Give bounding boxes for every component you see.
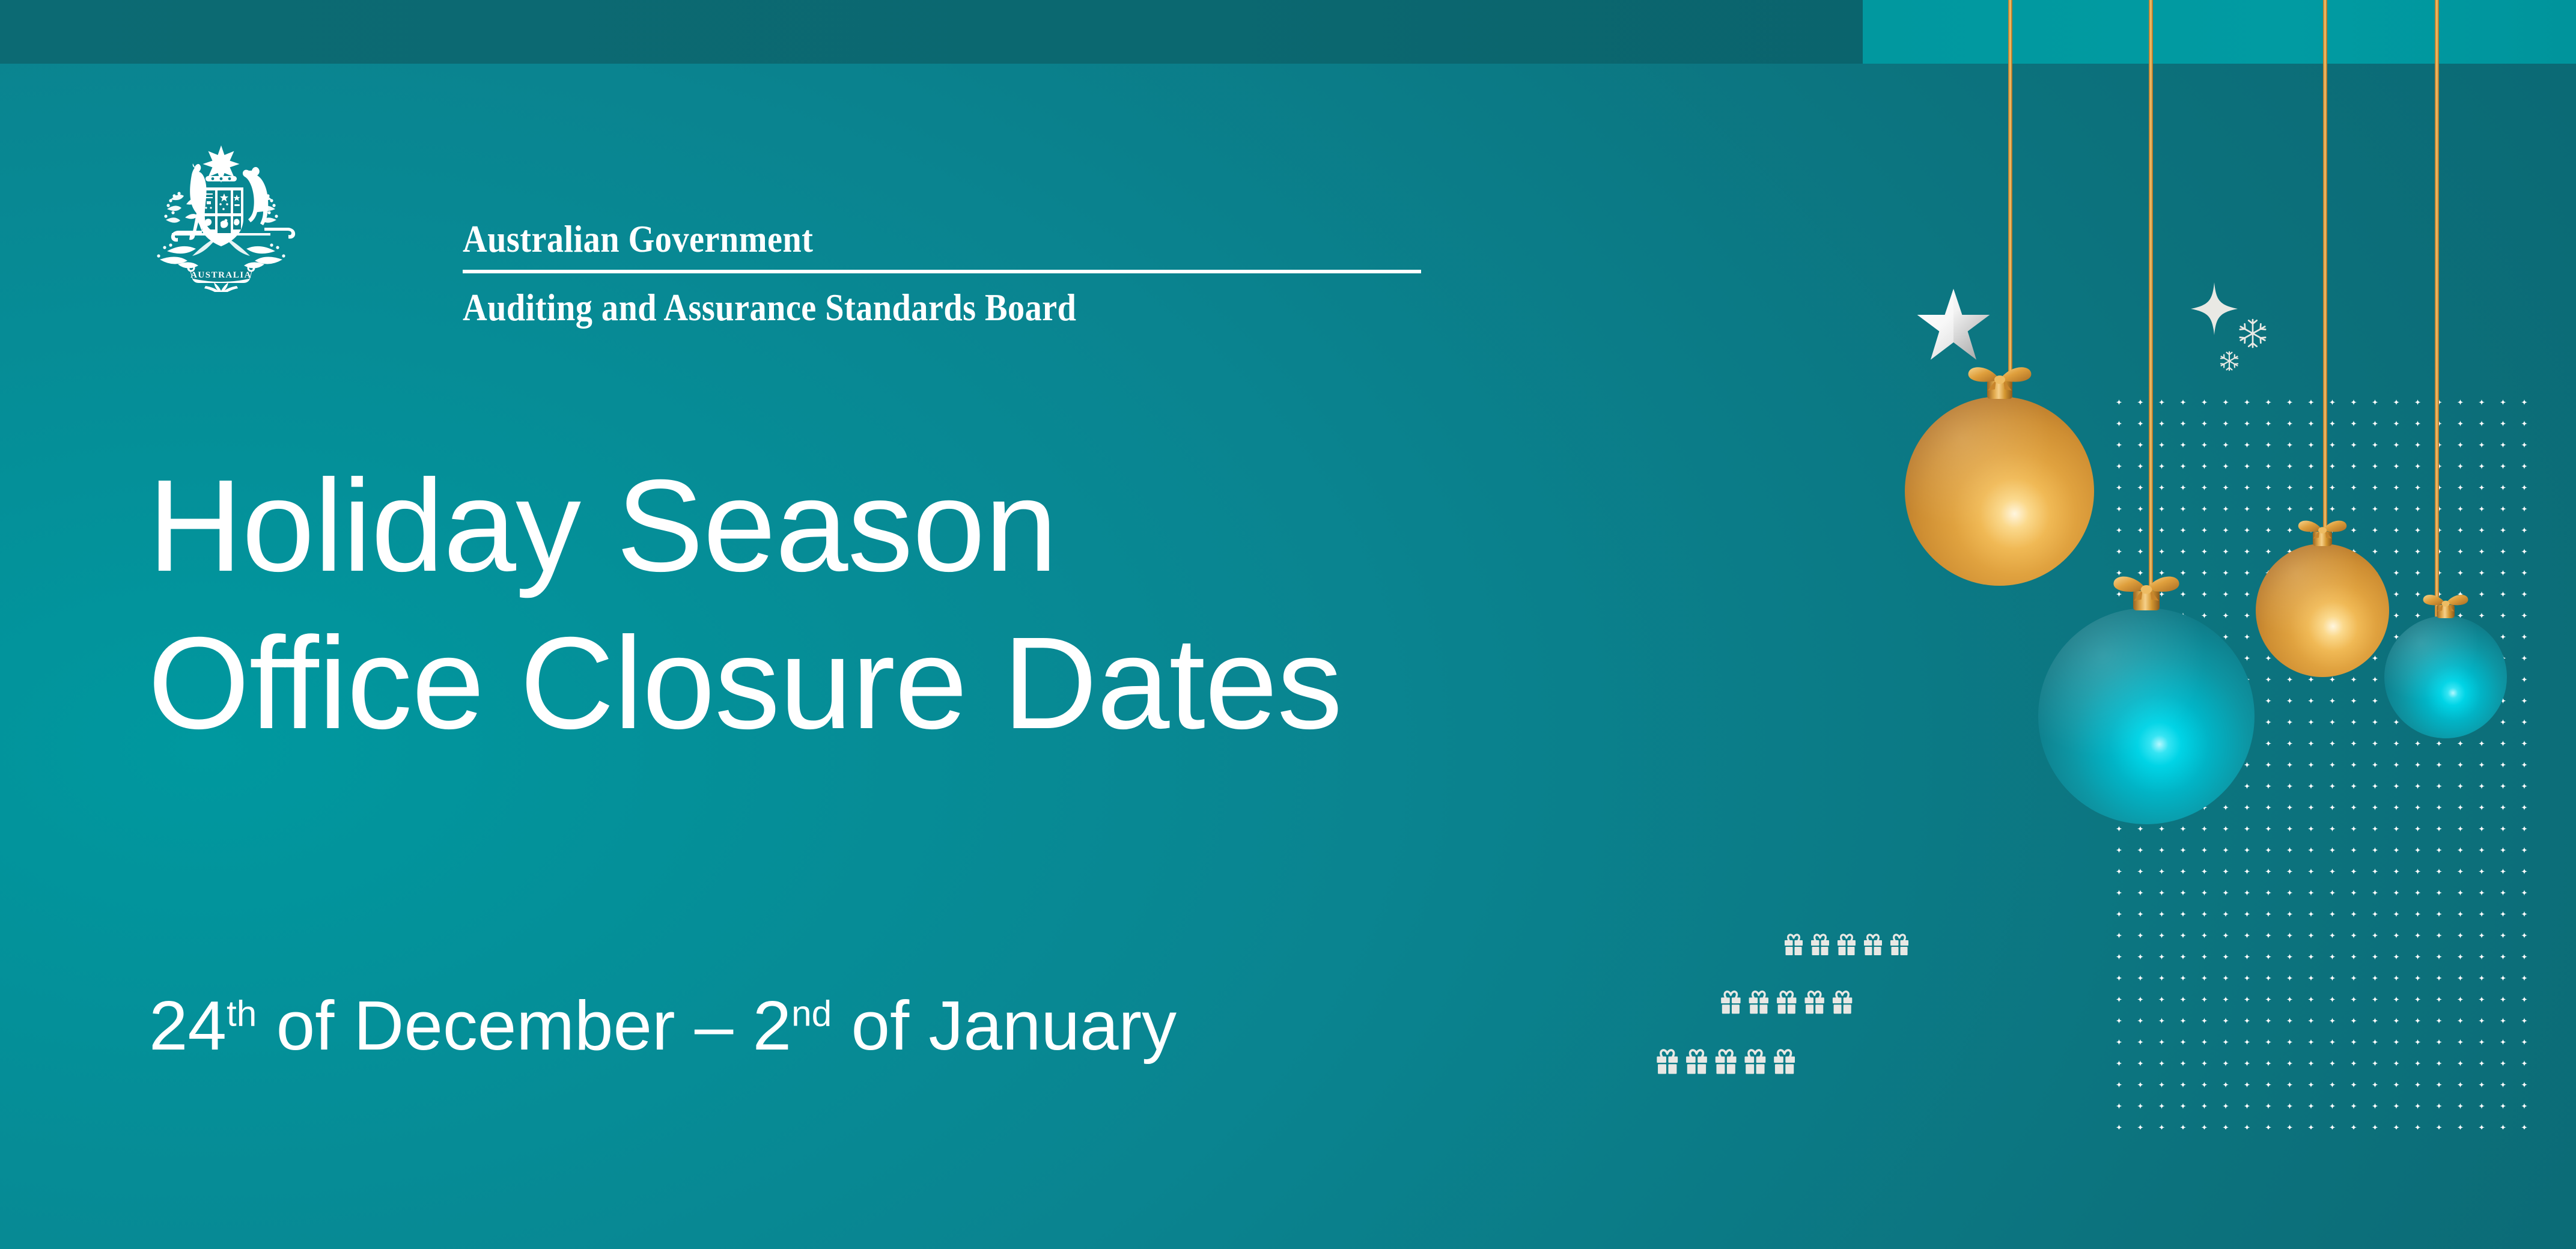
closure-date-range: 24th of December – 2nd of January [149,985,1177,1066]
brand-block: AUSTRALIA Australian Government Auditing… [0,0,1442,397]
sparkle-icon [2191,282,2238,335]
page-title: Holiday Season Office Closure Dates [148,448,1890,762]
bauble-bow-icon [1966,362,2033,391]
snowflake-icon-small [2218,350,2240,372]
headline-line-1: Holiday Season [148,448,1890,605]
string-1 [2008,0,2012,404]
bauble-sphere [1905,397,2094,586]
snowflake-icon-large [2236,317,2269,350]
start-ordinal: th [227,992,257,1033]
end-rest: of January [832,986,1177,1065]
wordmark-divider [463,270,1421,273]
wordmark-line-australian-government: Australian Government [463,219,1320,258]
holiday-closure-banner: AUSTRALIA Australian Government Auditing… [0,0,2576,1249]
bauble-bow-icon [2297,516,2348,539]
string-3 [2323,0,2327,539]
wordmark: Australian Government Auditing and Assur… [463,219,1436,327]
silver-star-icon [1914,287,1993,363]
gift-row-3 [1655,1045,1908,1082]
australian-coat-of-arms-icon: AUSTRALIA [131,142,311,292]
headline-line-2: Office Closure Dates [148,605,1890,762]
bauble-sphere [2256,544,2389,677]
svg-text:AUSTRALIA: AUSTRALIA [190,270,252,280]
end-ordinal: nd [791,992,832,1033]
bauble-teal-medium [2384,616,2507,738]
wordmark-line-auasb: Auditing and Assurance Standards Board [463,288,1320,327]
bauble-gold-medium [2256,544,2389,677]
gift-row-1 [1783,930,2012,962]
string-2 [2149,0,2153,637]
end-day: 2 [733,986,791,1065]
bauble-teal-large [2038,608,2255,824]
bauble-sphere [2384,616,2507,738]
bauble-gold-large [1905,397,2094,586]
bauble-bow-icon [2422,591,2470,612]
start-rest: of December [257,986,695,1065]
gift-row-2 [1720,986,1960,1021]
bauble-bow-icon [2111,571,2182,601]
top-band-right [1863,0,2576,64]
date-range-dash: – [695,986,734,1065]
start-day: 24 [149,986,227,1065]
bauble-sphere [2038,608,2255,824]
string-4 [2435,0,2439,627]
